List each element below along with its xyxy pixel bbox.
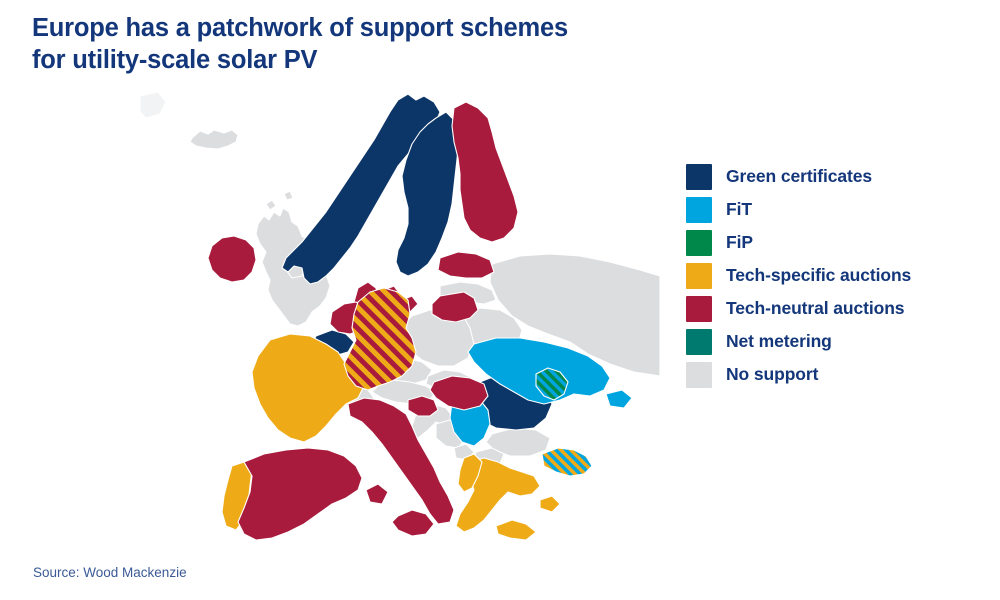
legend-swatch-tech-specific-auctions [686, 263, 712, 289]
legend-item-tech-neutral-auctions[interactable]: Tech-neutral auctions [686, 292, 976, 325]
region-ireland [208, 236, 256, 282]
legend-item-green-certificates[interactable]: Green certificates [686, 160, 976, 193]
region-hungary [430, 376, 488, 410]
region-scotland-isles [266, 191, 293, 210]
legend-swatch-tech-neutral-auctions [686, 296, 712, 322]
legend-label-fip: FiP [726, 232, 753, 253]
region-iceland [190, 130, 238, 149]
region-spain [238, 448, 362, 540]
legend-label-tech-specific-auctions: Tech-specific auctions [726, 265, 911, 286]
legend-swatch-fip [686, 230, 712, 256]
region-turkey-thrace [542, 448, 592, 476]
region-finland [452, 102, 518, 242]
legend-item-net-metering[interactable]: Net metering [686, 325, 976, 358]
map-legend: Green certificates FiT FiP Tech-specific… [686, 160, 976, 391]
source-note: Source: Wood Mackenzie [33, 565, 187, 580]
legend-item-no-support[interactable]: No support [686, 358, 976, 391]
legend-label-green-certificates: Green certificates [726, 166, 872, 187]
region-estonia [438, 252, 494, 278]
legend-label-no-support: No support [726, 364, 818, 385]
legend-swatch-net-metering [686, 329, 712, 355]
page-title-line-1: Europe has a patchwork of support scheme… [32, 12, 652, 44]
legend-item-tech-specific-auctions[interactable]: Tech-specific auctions [686, 259, 976, 292]
page-title: Europe has a patchwork of support scheme… [32, 12, 652, 76]
region-slovenia [408, 396, 438, 416]
legend-label-fit: FiT [726, 199, 752, 220]
legend-swatch-no-support [686, 362, 712, 388]
legend-label-net-metering: Net metering [726, 331, 832, 352]
legend-swatch-fit [686, 197, 712, 223]
europe-choropleth-map [140, 86, 660, 556]
region-greenland-edge [140, 92, 166, 118]
legend-label-tech-neutral-auctions: Tech-neutral auctions [726, 298, 904, 319]
region-lithuania [432, 292, 478, 322]
map-svg [140, 86, 660, 556]
legend-swatch-green-certificates [686, 164, 712, 190]
legend-item-fit[interactable]: FiT [686, 193, 976, 226]
page-title-line-2: for utility-scale solar PV [32, 44, 652, 76]
legend-item-fip[interactable]: FiP [686, 226, 976, 259]
